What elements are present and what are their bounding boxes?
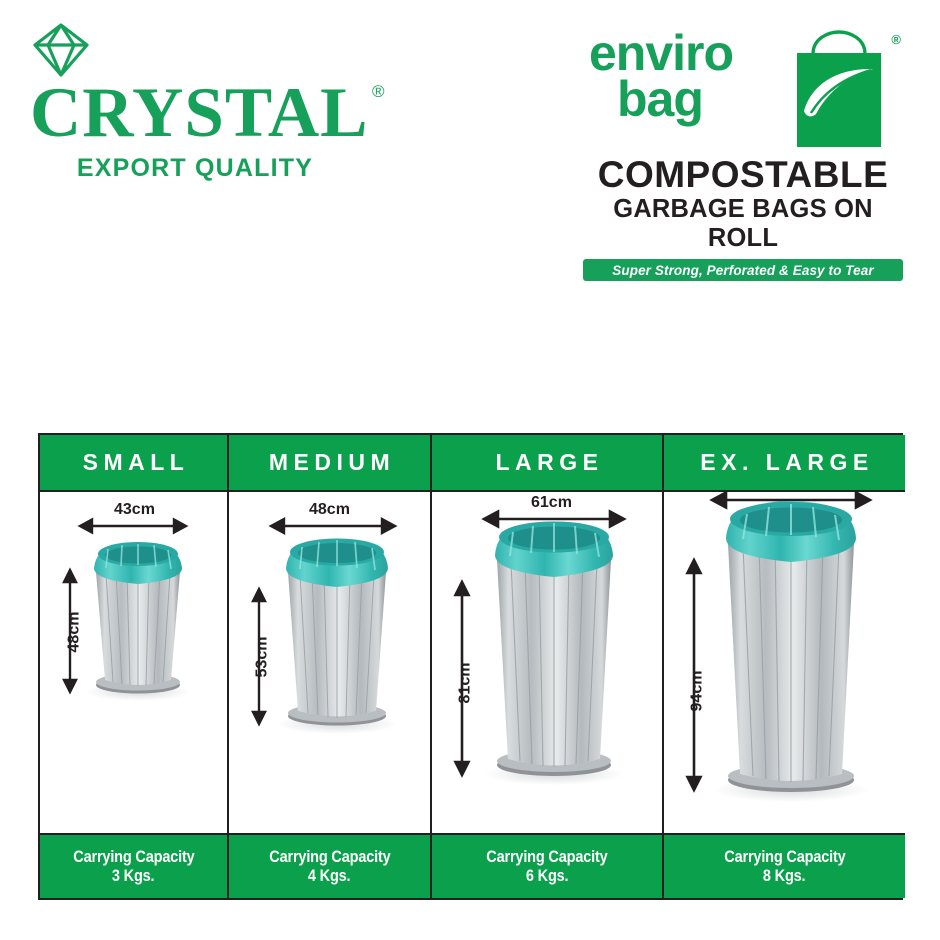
registered-trademark-icon: ® bbox=[372, 84, 386, 100]
table-header-medium: MEDIUM bbox=[227, 435, 430, 492]
infographic-page: CRYSTAL ® EXPORT QUALITY enviro bag bbox=[0, 0, 940, 940]
bin-cell-small: 43cm 48cm bbox=[40, 492, 227, 833]
product-subheading: GARBAGE BAGS ON ROLL bbox=[583, 195, 903, 254]
height-label-medium: 53cm bbox=[253, 637, 271, 678]
header-banner: CRYSTAL ® EXPORT QUALITY enviro bag bbox=[0, 0, 940, 420]
size-chart-table: SMALL MEDIUM LARGE EX. LARGE bbox=[38, 433, 903, 900]
capacity-value: 6 Kgs. bbox=[526, 867, 569, 886]
capacity-label: Carrying Capacity bbox=[724, 848, 845, 867]
bin-illustration-small bbox=[40, 492, 227, 833]
table-header-small: SMALL bbox=[40, 435, 227, 492]
bin-cell-medium: 48cm 53cm bbox=[227, 492, 430, 833]
product-tagline-banner: Super Strong, Perforated & Easy to Tear bbox=[583, 259, 903, 281]
enviro-bag-wordmark: enviro bag bbox=[589, 30, 733, 122]
crystal-name: CRYSTAL bbox=[30, 74, 369, 152]
header-label: SMALL bbox=[78, 449, 190, 476]
enviro-word-line2: bag bbox=[589, 76, 733, 122]
width-label-ex-large: 76cm bbox=[766, 492, 807, 494]
capacity-value: 8 Kgs. bbox=[763, 867, 806, 886]
bin-cell-ex-large: 76cm 94cm bbox=[662, 492, 905, 833]
capacity-value: 3 Kgs. bbox=[112, 867, 155, 886]
table-header-large: LARGE bbox=[430, 435, 662, 492]
enviro-registered-trademark-icon: ® bbox=[891, 32, 901, 47]
width-label-large: 61cm bbox=[531, 494, 572, 512]
table-header-ex-large: EX. LARGE bbox=[662, 435, 905, 492]
width-label-medium: 48cm bbox=[309, 501, 350, 519]
ribbed-trash-bin-with-liner-icon bbox=[664, 492, 905, 833]
ribbed-trash-bin-with-liner-icon bbox=[40, 492, 227, 833]
capacity-cell-ex-large: Carrying Capacity 8 Kgs. bbox=[662, 833, 905, 898]
capacity-cell-medium: Carrying Capacity 4 Kgs. bbox=[227, 833, 430, 898]
capacity-label: Carrying Capacity bbox=[269, 848, 390, 867]
product-heading: COMPOSTABLE bbox=[583, 156, 903, 194]
product-tagline-text: Super Strong, Perforated & Easy to Tear bbox=[612, 263, 873, 278]
header-label: MEDIUM bbox=[264, 449, 395, 476]
height-label-large: 81cm bbox=[456, 663, 474, 704]
capacity-label: Carrying Capacity bbox=[73, 848, 194, 867]
capacity-cell-large: Carrying Capacity 6 Kgs. bbox=[430, 833, 662, 898]
width-label-small: 43cm bbox=[114, 501, 155, 519]
shopping-bag-leaf-icon bbox=[791, 28, 887, 150]
capacity-cell-small: Carrying Capacity 3 Kgs. bbox=[40, 833, 227, 898]
capacity-label: Carrying Capacity bbox=[486, 848, 607, 867]
diamond-gem-icon bbox=[30, 22, 360, 78]
crystal-wordmark: CRYSTAL ® bbox=[30, 80, 369, 147]
header-label: LARGE bbox=[491, 449, 604, 476]
crystal-tagline: EXPORT QUALITY bbox=[30, 154, 360, 183]
bin-cell-large: 61cm 81cm bbox=[430, 492, 662, 833]
height-label-small: 48cm bbox=[65, 612, 83, 653]
crystal-brand-logo: CRYSTAL ® EXPORT QUALITY bbox=[30, 22, 360, 183]
bin-illustration-ex-large bbox=[664, 492, 905, 833]
capacity-value: 4 Kgs. bbox=[308, 867, 351, 886]
header-label: EX. LARGE bbox=[695, 449, 873, 476]
enviro-bag-product-logo: enviro bag ® COMPOSTABLE GARBAGE BAGS ON… bbox=[583, 26, 903, 281]
height-label-ex-large: 94cm bbox=[688, 671, 706, 712]
